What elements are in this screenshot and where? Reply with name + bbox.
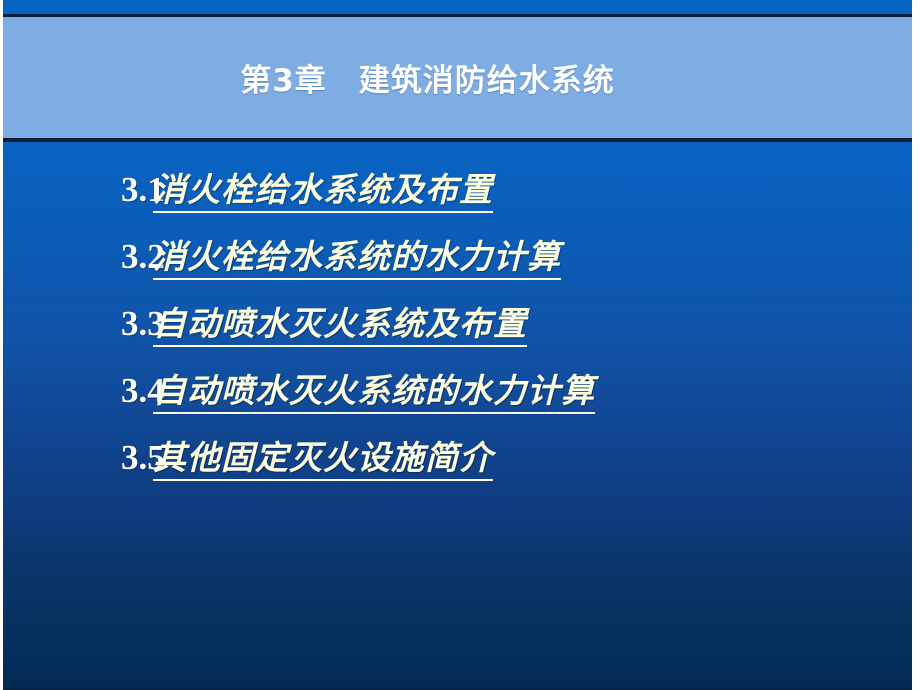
slide: 第3章 建筑消防给水系统 3.1 消火栓给水系统及布置 3.2 消火栓给水系统的… xyxy=(0,0,920,690)
toc-link[interactable]: 自动喷水灭火系统的水力计算 xyxy=(153,374,595,414)
list-item[interactable]: 3.1 消火栓给水系统及布置 xyxy=(3,172,912,239)
list-item[interactable]: 3.3 自动喷水灭火系统及布置 xyxy=(3,306,912,373)
slide-header: 第3章 建筑消防给水系统 xyxy=(3,17,912,138)
slide-body: 3.1 消火栓给水系统及布置 3.2 消火栓给水系统的水力计算 3.3 自动喷水… xyxy=(3,142,912,690)
list-item[interactable]: 3.5 其他固定灭火设施简介 xyxy=(3,440,912,507)
table-of-contents: 3.1 消火栓给水系统及布置 3.2 消火栓给水系统的水力计算 3.3 自动喷水… xyxy=(3,172,912,507)
toc-number: 3.2 xyxy=(3,239,153,274)
page-title: 第3章 建筑消防给水系统 xyxy=(240,55,615,100)
toc-link[interactable]: 自动喷水灭火系统及布置 xyxy=(153,307,527,347)
toc-link[interactable]: 消火栓给水系统的水力计算 xyxy=(153,240,561,280)
top-accent-band xyxy=(3,0,912,14)
list-item[interactable]: 3.4 自动喷水灭火系统的水力计算 xyxy=(3,373,912,440)
toc-number: 3.1 xyxy=(3,172,153,207)
toc-number: 3.3 xyxy=(3,306,153,341)
toc-number: 3.4 xyxy=(3,373,153,408)
toc-link[interactable]: 其他固定灭火设施简介 xyxy=(153,441,493,481)
toc-number: 3.5 xyxy=(3,440,153,475)
list-item[interactable]: 3.2 消火栓给水系统的水力计算 xyxy=(3,239,912,306)
toc-link[interactable]: 消火栓给水系统及布置 xyxy=(153,173,493,213)
